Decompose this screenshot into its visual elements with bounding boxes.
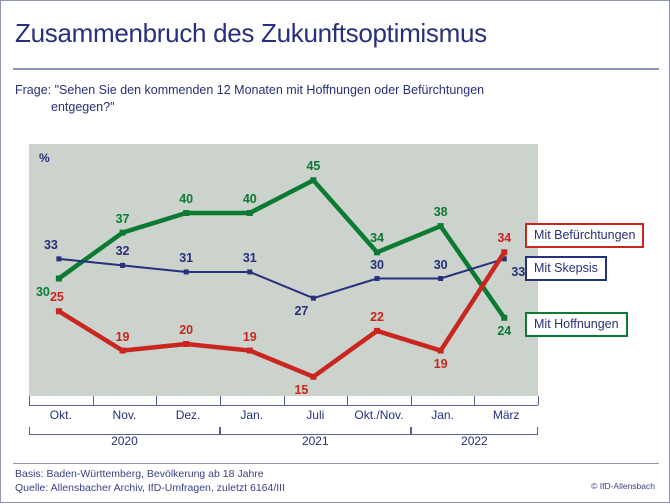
axis-tick bbox=[93, 396, 94, 405]
title-divider bbox=[13, 68, 659, 70]
axis-tick-label: Dez. bbox=[176, 408, 201, 422]
data-label: 33 bbox=[44, 238, 58, 252]
axis-tick bbox=[284, 396, 285, 405]
footer-text: Basis: Baden-Württemberg, Bevölkerung ab… bbox=[15, 467, 285, 495]
axis-tick-label: Nov. bbox=[113, 408, 137, 422]
question-line-1: Frage: "Sehen Sie den kommenden 12 Monat… bbox=[15, 83, 484, 97]
data-label: 31 bbox=[243, 251, 257, 265]
axis-year-label: 2022 bbox=[461, 434, 488, 448]
data-label: 19 bbox=[434, 357, 448, 371]
axis-tick-label: Juli bbox=[306, 408, 324, 422]
plot-area bbox=[29, 144, 538, 396]
data-label: 22 bbox=[370, 310, 384, 324]
data-label: 25 bbox=[50, 290, 64, 304]
axis-tick bbox=[29, 396, 30, 405]
legend-item-hoffnungen[interactable]: Mit Hoffnungen bbox=[525, 312, 628, 337]
data-label: 45 bbox=[306, 159, 320, 173]
footer-source: Quelle: Allensbacher Archiv, IfD-Umfrage… bbox=[15, 481, 285, 495]
data-label: 19 bbox=[243, 330, 257, 344]
axis-tick bbox=[411, 396, 412, 405]
data-label: 40 bbox=[179, 192, 193, 206]
footer-basis: Basis: Baden-Württemberg, Bevölkerung ab… bbox=[15, 467, 285, 481]
axis-year-label: 2021 bbox=[302, 434, 329, 448]
data-label: 19 bbox=[116, 330, 130, 344]
data-label: 32 bbox=[116, 244, 130, 258]
data-label: 33 bbox=[511, 265, 525, 279]
legend-item-label: Mit Hoffnungen bbox=[534, 317, 619, 331]
data-label: 38 bbox=[434, 205, 448, 219]
data-label: 37 bbox=[116, 212, 130, 226]
axis-year-label: 2020 bbox=[111, 434, 138, 448]
page-title: Zusammenbruch des Zukunftsoptimismus bbox=[15, 18, 487, 49]
chart-page: Zusammenbruch des Zukunftsoptimismus Fra… bbox=[0, 0, 670, 503]
legend-item-skepsis[interactable]: Mit Skepsis bbox=[525, 256, 607, 281]
data-label: 30 bbox=[36, 285, 50, 299]
data-label: 30 bbox=[434, 258, 448, 272]
data-label: 24 bbox=[497, 324, 511, 338]
axis-tick bbox=[474, 396, 475, 405]
legend-item-label: Mit Befürchtungen bbox=[534, 228, 635, 242]
data-label: 27 bbox=[294, 304, 308, 318]
question-text: Frage: "Sehen Sie den kommenden 12 Monat… bbox=[15, 82, 575, 116]
axis-tick-label: Jan. bbox=[431, 408, 454, 422]
legend-item-label: Mit Skepsis bbox=[534, 261, 598, 275]
legend-item-befuerchtungen[interactable]: Mit Befürchtungen bbox=[525, 223, 644, 248]
data-label: 40 bbox=[243, 192, 257, 206]
axis-tick bbox=[538, 396, 539, 405]
axis-tick-label: März bbox=[493, 408, 520, 422]
footer-divider bbox=[13, 463, 659, 464]
data-label: 20 bbox=[179, 323, 193, 337]
axis-tick bbox=[220, 396, 221, 405]
question-line-2: entgegen?" bbox=[15, 99, 575, 116]
percent-axis-label: % bbox=[39, 151, 50, 165]
data-label: 15 bbox=[294, 383, 308, 397]
axis-tick-label: Okt. bbox=[50, 408, 72, 422]
data-label: 34 bbox=[370, 231, 384, 245]
data-label: 30 bbox=[370, 258, 384, 272]
data-label: 31 bbox=[179, 251, 193, 265]
axis-tick bbox=[347, 396, 348, 405]
copyright-label: © IfD-Allensbach bbox=[591, 481, 655, 491]
x-axis: Okt.Nov.Dez.Jan.JuliOkt./Nov.Jan.März 20… bbox=[29, 396, 538, 454]
axis-tick-label: Jan. bbox=[240, 408, 263, 422]
data-label: 34 bbox=[497, 231, 511, 245]
axis-line bbox=[29, 405, 538, 406]
axis-tick bbox=[156, 396, 157, 405]
axis-tick-label: Okt./Nov. bbox=[354, 408, 403, 422]
